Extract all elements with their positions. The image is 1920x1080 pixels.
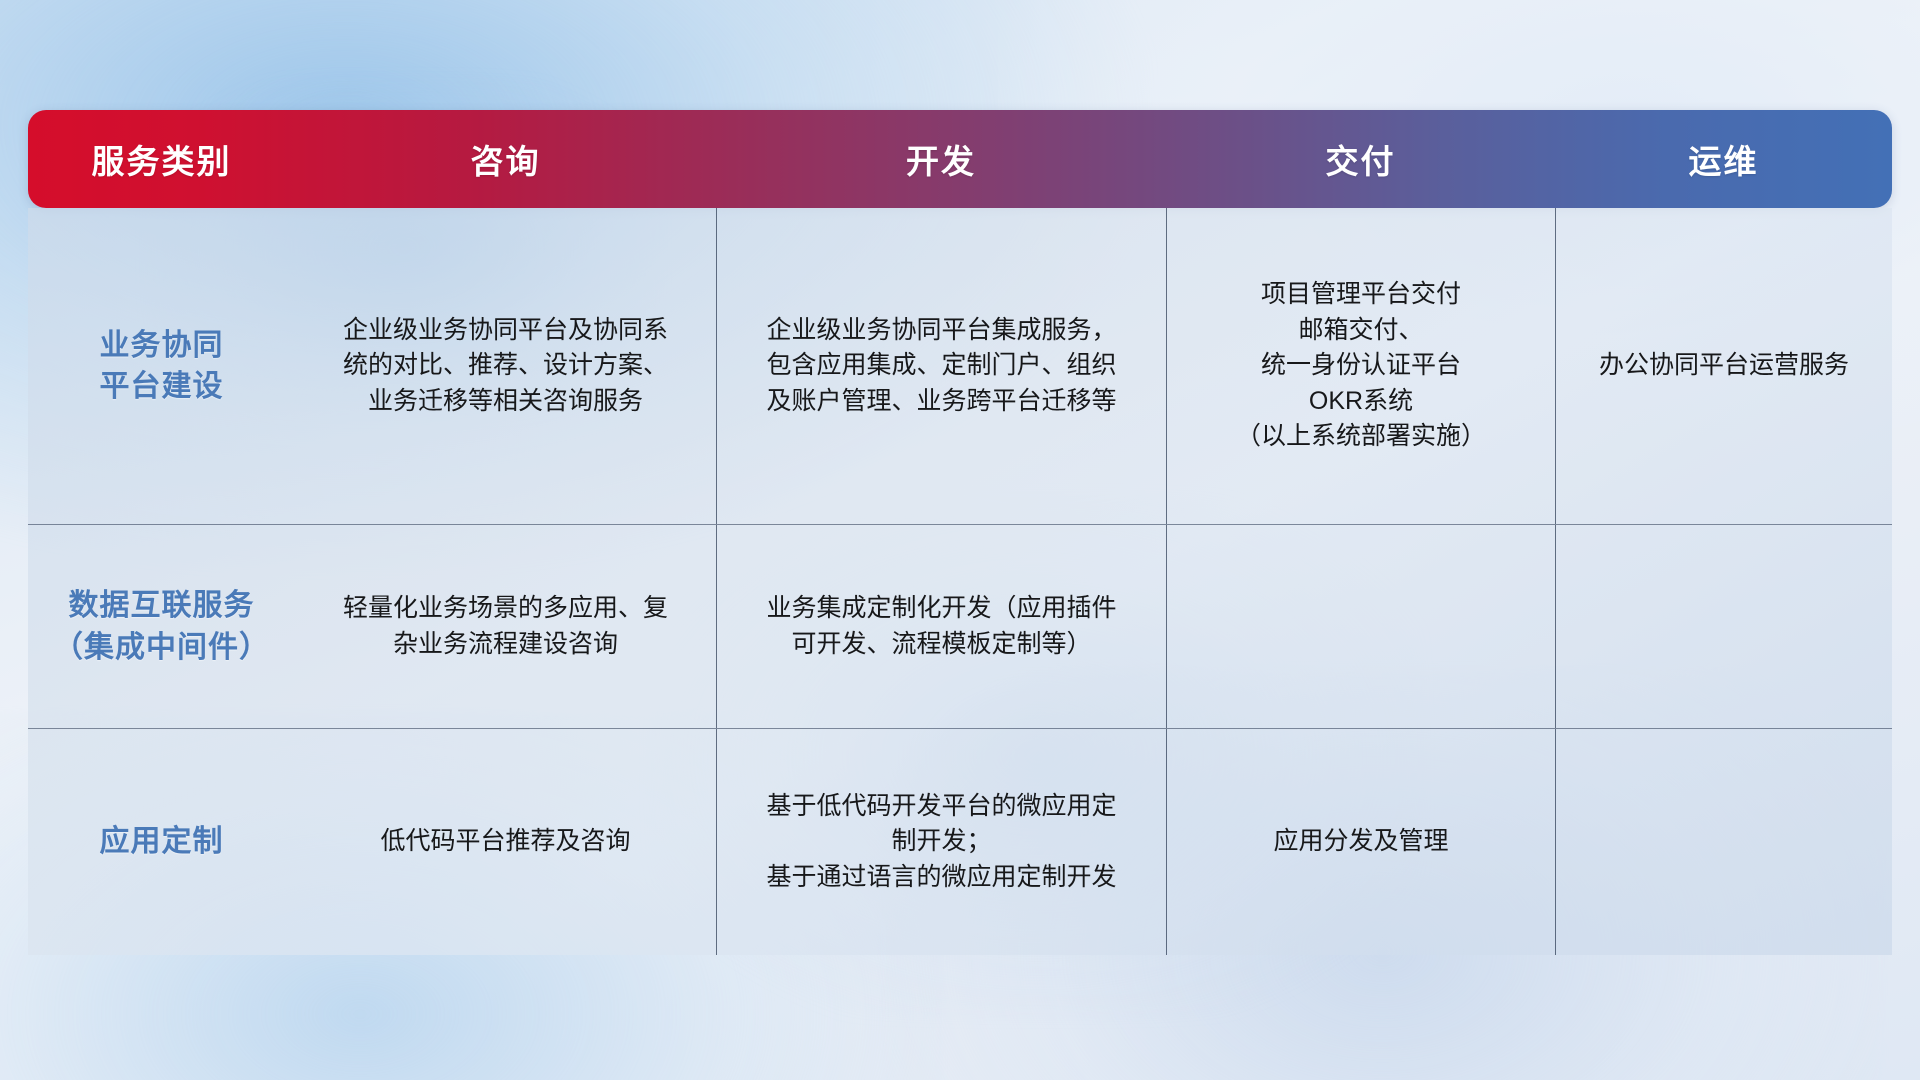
cell-consulting: 低代码平台推荐及咨询 bbox=[295, 729, 716, 955]
row-category-label: 应用定制 bbox=[28, 729, 295, 955]
table-header-service-category: 服务类别 bbox=[28, 110, 295, 208]
cell-consulting: 企业级业务协同平台及协同系 统的对比、推荐、设计方案、 业务迁移等相关咨询服务 bbox=[295, 208, 716, 524]
table-row: 数据互联服务 （集成中间件） 轻量化业务场景的多应用、复 杂业务流程建设咨询 业… bbox=[28, 524, 1892, 728]
table-header-delivery: 交付 bbox=[1166, 110, 1555, 208]
table-body: 业务协同 平台建设 企业级业务协同平台及协同系 统的对比、推荐、设计方案、 业务… bbox=[28, 208, 1892, 955]
service-category-table: 服务类别 咨询 开发 交付 运维 业务协同 平台建设 企业级业务协同平台及协同系… bbox=[28, 110, 1892, 955]
cell-delivery: 应用分发及管理 bbox=[1166, 729, 1555, 955]
cell-development: 企业级业务协同平台集成服务， 包含应用集成、定制门户、组织 及账户管理、业务跨平… bbox=[716, 208, 1166, 524]
cell-operations: 办公协同平台运营服务 bbox=[1555, 208, 1892, 524]
table-header-consulting: 咨询 bbox=[295, 110, 716, 208]
table-header-row: 服务类别 咨询 开发 交付 运维 bbox=[28, 110, 1892, 208]
cell-operations bbox=[1555, 525, 1892, 728]
table-row: 业务协同 平台建设 企业级业务协同平台及协同系 统的对比、推荐、设计方案、 业务… bbox=[28, 208, 1892, 524]
cell-development: 业务集成定制化开发（应用插件 可开发、流程模板定制等） bbox=[716, 525, 1166, 728]
cell-delivery: 项目管理平台交付 邮箱交付、 统一身份认证平台 OKR系统 （以上系统部署实施） bbox=[1166, 208, 1555, 524]
cell-delivery bbox=[1166, 525, 1555, 728]
cell-operations bbox=[1555, 729, 1892, 955]
row-category-label: 数据互联服务 （集成中间件） bbox=[28, 525, 295, 728]
cell-consulting: 轻量化业务场景的多应用、复 杂业务流程建设咨询 bbox=[295, 525, 716, 728]
cell-development: 基于低代码开发平台的微应用定 制开发； 基于通过语言的微应用定制开发 bbox=[716, 729, 1166, 955]
table-header-operations: 运维 bbox=[1555, 110, 1892, 208]
table-header-development: 开发 bbox=[716, 110, 1166, 208]
row-category-label: 业务协同 平台建设 bbox=[28, 208, 295, 524]
table-row: 应用定制 低代码平台推荐及咨询 基于低代码开发平台的微应用定 制开发； 基于通过… bbox=[28, 728, 1892, 955]
